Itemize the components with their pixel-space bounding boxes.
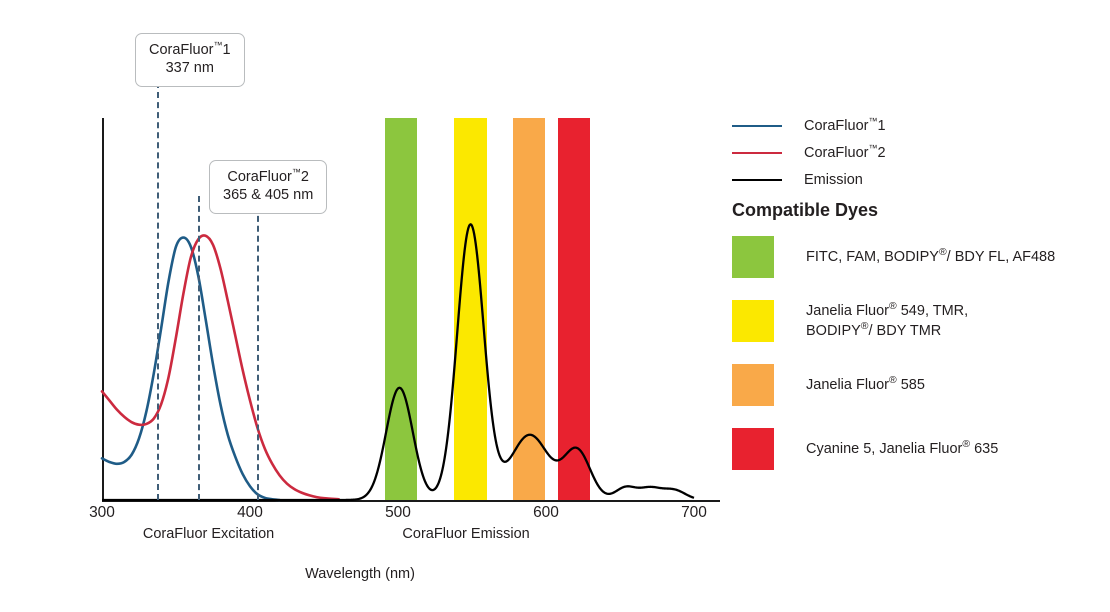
callout-corafluor1: CoraFluor™1 337 nm: [135, 33, 245, 87]
legend-item-0[interactable]: CoraFluor™1: [732, 112, 1102, 139]
x-tick-500: 500: [385, 504, 411, 522]
x-tick-300: 300: [89, 504, 115, 522]
registered-icon: ®: [962, 439, 970, 450]
legend-item-label: CoraFluor™1: [804, 118, 886, 134]
dye-list-item-1[interactable]: Janelia Fluor® 549, TMR,BODIPY®/ BDY TMR: [732, 300, 1104, 342]
x-axis-title: Wavelength (nm): [0, 566, 720, 582]
legend-line-swatch: [732, 152, 782, 154]
legend-item-label: CoraFluor™2: [804, 145, 886, 161]
x-tick-600: 600: [533, 504, 559, 522]
registered-icon: ®: [889, 301, 897, 312]
dye-list-item-3[interactable]: Cyanine 5, Janelia Fluor® 635: [732, 428, 1104, 470]
x-tick-700: 700: [681, 504, 707, 522]
compatible-dyes-list: FITC, FAM, BODIPY®/ BDY FL, AF488Janelia…: [732, 236, 1104, 492]
callout-line2: 365 & 405 nm: [223, 186, 313, 204]
callout-line1: CoraFluor™1: [149, 42, 231, 58]
callout-corafluor2: CoraFluor™2 365 & 405 nm: [209, 160, 327, 214]
callout-line1: CoraFluor™2: [227, 169, 309, 185]
dye-list-item-0[interactable]: FITC, FAM, BODIPY®/ BDY FL, AF488: [732, 236, 1104, 278]
curve-series-0: [102, 238, 280, 500]
spectra-curves: [102, 118, 720, 502]
region-label-emission: CoraFluor Emission: [402, 526, 529, 542]
dye-list-item-2[interactable]: Janelia Fluor® 585: [732, 364, 1104, 406]
registered-icon: ®: [889, 375, 897, 386]
legend-item-label: Emission: [804, 172, 863, 188]
dye-color-swatch: [732, 236, 774, 278]
region-label-excitation: CoraFluor Excitation: [143, 526, 274, 542]
dye-label: Janelia Fluor® 585: [806, 375, 925, 395]
trademark-icon: ™: [292, 167, 301, 177]
dye-label: FITC, FAM, BODIPY®/ BDY FL, AF488: [806, 247, 1055, 267]
dye-label: Janelia Fluor® 549, TMR,BODIPY®/ BDY TMR: [806, 301, 968, 341]
legend-line-swatch: [732, 125, 782, 127]
excitation-line-405nm: [257, 196, 259, 500]
dye-color-swatch: [732, 364, 774, 406]
compatible-dyes-heading: Compatible Dyes: [732, 200, 878, 221]
curve-series-1: [102, 235, 339, 499]
dye-label: Cyanine 5, Janelia Fluor® 635: [806, 439, 998, 459]
curve-series-2: [102, 224, 694, 500]
dye-color-swatch: [732, 300, 774, 342]
callout-line2: 337 nm: [149, 59, 231, 77]
registered-icon: ®: [939, 247, 947, 258]
dye-color-swatch: [732, 428, 774, 470]
excitation-line-337nm: [157, 82, 159, 500]
excitation-line-365nm: [198, 196, 200, 500]
spectra-figure: CoraFluor™1 337 nm CoraFluor™2 365 & 405…: [0, 0, 1110, 612]
legend-item-1[interactable]: CoraFluor™2: [732, 139, 1102, 166]
series-legend: CoraFluor™1CoraFluor™2Emission: [732, 112, 1102, 193]
legend-item-2[interactable]: Emission: [732, 166, 1102, 193]
registered-icon: ®: [861, 321, 869, 332]
plot-area: [102, 118, 720, 502]
legend-line-swatch: [732, 179, 782, 181]
x-tick-400: 400: [237, 504, 263, 522]
